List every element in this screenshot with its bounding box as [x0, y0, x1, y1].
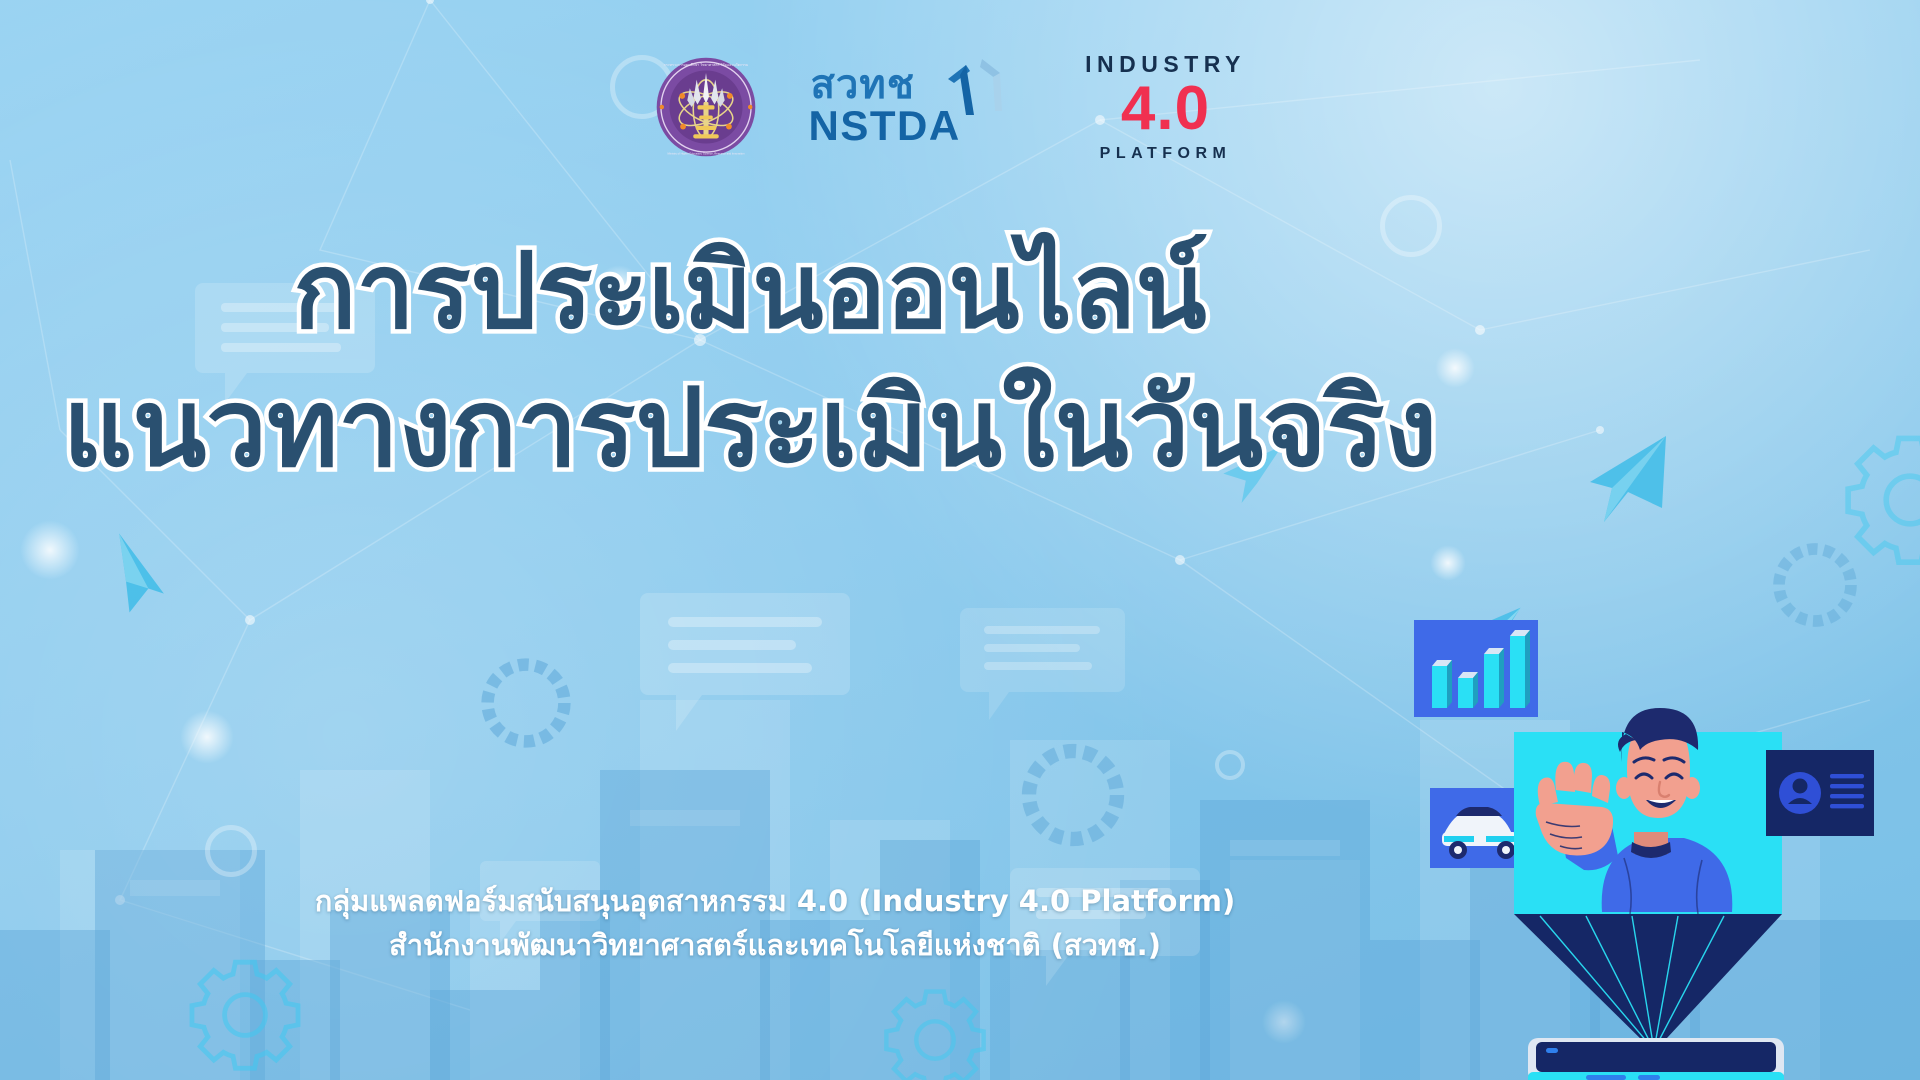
title-line-2: แนวทางการประเมินในวันจริง — [0, 363, 1500, 495]
hologram-video-call-illustration — [1410, 610, 1920, 1080]
nstda-arrow-icon — [942, 53, 1020, 121]
ring-circle — [1215, 750, 1245, 780]
subtitle-line-2: สำนักงานพัฒนาวิทยาศาสตร์และเทคโนโลยีแห่ง… — [0, 924, 1550, 968]
speech-bubble — [640, 585, 850, 735]
gear-icon — [1840, 430, 1920, 570]
nstda-english-text: NSTDA — [809, 105, 961, 147]
page-subtitle: กลุ่มแพลตฟอร์มสนับสนุนอุตสาหกรรม 4.0 (In… — [0, 880, 1550, 967]
industry-label: INDUSTRY — [1066, 52, 1266, 76]
gear-icon — [880, 985, 990, 1080]
poster-canvas: กระทรวงการอุดมศึกษา วิทยาศาสตร์ วิจัยและ… — [0, 0, 1920, 1080]
industry-40-platform-logo: INDUSTRY 4.0 PLATFORM — [1066, 52, 1266, 163]
glow-dot — [1430, 545, 1466, 581]
industry-version: 4.0 — [1066, 78, 1266, 140]
glow-dot — [1262, 1000, 1306, 1044]
dashed-ring — [478, 655, 574, 751]
gear-icon — [185, 955, 305, 1075]
title-line-1: การประเมินออนไลน์ — [0, 228, 1500, 355]
glow-dot — [180, 710, 234, 764]
ring-circle — [205, 825, 257, 877]
subtitle-line-1: กลุ่มแพลตฟอร์มสนับสนุนอุตสาหกรรม 4.0 (In… — [0, 880, 1550, 924]
id-card-panel — [1766, 750, 1874, 836]
seal-ring-text-bottom: Ministry of Higher Education, Science, R… — [667, 152, 744, 156]
paper-plane-icon — [114, 530, 200, 616]
platform-label: PLATFORM — [1066, 146, 1266, 163]
logo-row: กระทรวงการอุดมศึกษา วิทยาศาสตร์ วิจัยและ… — [0, 52, 1920, 163]
tablet-device — [1528, 1038, 1784, 1080]
ministry-seal-logo: กระทรวงการอุดมศึกษา วิทยาศาสตร์ วิจัยและ… — [655, 56, 757, 158]
hologram-cone — [1514, 914, 1782, 1052]
dashed-ring — [1018, 740, 1128, 850]
bar-chart-panel — [1414, 620, 1538, 717]
glow-dot — [20, 520, 80, 580]
ministry-seal-icon: กระทรวงการอุดมศึกษา วิทยาศาสตร์ วิจัยและ… — [655, 56, 757, 158]
nstda-thai-text: สวทช — [811, 65, 915, 105]
nstda-logo: สวทช NSTDA — [809, 61, 1014, 153]
page-title: การประเมินออนไลน์ แนวทางการประเมินในวันจ… — [0, 228, 1500, 495]
car-panel — [1430, 788, 1526, 868]
paper-plane-icon — [1570, 430, 1670, 530]
speech-bubble — [960, 600, 1125, 720]
